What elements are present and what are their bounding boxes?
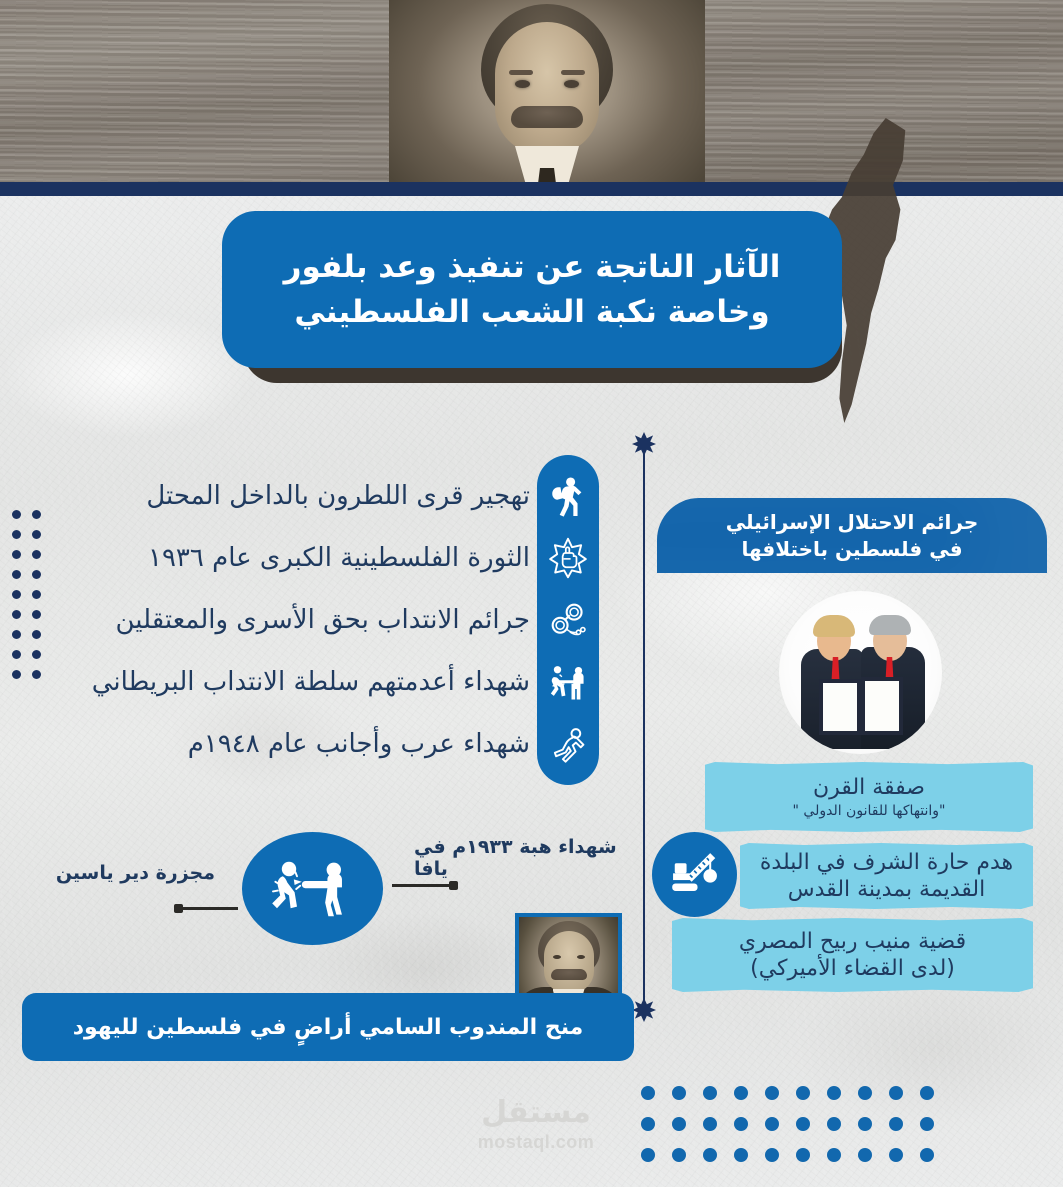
dot: [641, 1117, 655, 1131]
photo-document-page-right: [865, 681, 899, 731]
list-item-label: شهداء عرب وأجانب عام ١٩٤٨م: [188, 729, 530, 760]
ribbon-subtitle: "وانتهاكها للقانون الدولي ": [793, 802, 946, 820]
ribbon-title: هدم حارة الشرف في البلدة القديمة بمدينة …: [760, 849, 1013, 904]
dot: [12, 610, 21, 619]
right-panel-item: قضية منيب ربيح المصري (لدى القضاء الأمير…: [672, 918, 1033, 992]
dot: [32, 650, 41, 659]
list-item-label: جرائم الانتداب بحق الأسرى والمعتقلين: [116, 605, 530, 636]
header-banner: [0, 0, 1063, 196]
dot: [672, 1086, 686, 1100]
dot: [641, 1148, 655, 1162]
balfour-header-portrait: [389, 0, 705, 196]
label-jaffa-1933: شهداء هبة ١٩٣٣م في يافا: [414, 836, 629, 880]
body-outline-icon: [547, 723, 589, 765]
dot: [796, 1117, 810, 1131]
dot: [827, 1086, 841, 1100]
dot: [32, 570, 41, 579]
land-grant-banner: منح المندوب السامي أراضٍ في فلسطين لليهو…: [22, 993, 634, 1061]
dot: [32, 530, 41, 539]
dot: [32, 630, 41, 639]
dot: [765, 1148, 779, 1162]
dot: [12, 590, 21, 599]
dot: [672, 1148, 686, 1162]
dot: [858, 1086, 872, 1100]
connector-deir-yassin: [178, 907, 238, 910]
dot: [827, 1117, 841, 1131]
page-title-line1: الآثار الناتجة عن تنفيذ وعد بلفور: [284, 249, 781, 285]
portrait-eye-left: [515, 80, 530, 88]
dot: [32, 550, 41, 559]
execution-icon: [547, 661, 589, 703]
demolition-icon-badge: [652, 832, 737, 917]
refugee-icon: [547, 475, 589, 517]
dot: [920, 1148, 934, 1162]
list-item: تهجير قرى اللطرون بالداخل المحتل: [78, 466, 530, 528]
right-panel-item: صفقة القرن "وانتهاكها للقانون الدولي ": [705, 762, 1033, 832]
dot: [734, 1086, 748, 1100]
dot: [32, 670, 41, 679]
watermark-arabic: مستقل: [452, 1098, 620, 1128]
portrait-moustache: [511, 106, 583, 128]
dot: [827, 1148, 841, 1162]
photo-figure-left-hair: [813, 615, 855, 637]
dot: [765, 1117, 779, 1131]
list-item: شهداء عرب وأجانب عام ١٩٤٨م: [78, 714, 530, 776]
portrait-brow-left: [509, 70, 533, 75]
dot: [858, 1148, 872, 1162]
main-title-pill: الآثار الناتجة عن تنفيذ وعد بلفور وخاصة …: [222, 211, 842, 368]
dot: [12, 510, 21, 519]
left-dot-grid: [6, 505, 46, 685]
small-portrait-face: [544, 931, 594, 993]
timeline-line: [643, 444, 645, 1010]
dot: [32, 610, 41, 619]
portrait-eye-right: [564, 80, 579, 88]
dot: [734, 1148, 748, 1162]
header-navy-strip: [0, 182, 1063, 196]
right-panel-heading: جرائم الاحتلال الإسرائيلي في فلسطين باخت…: [657, 498, 1047, 573]
dot: [889, 1117, 903, 1131]
dot: [12, 570, 21, 579]
bottom-dot-grid: [632, 1078, 942, 1171]
right-panel-heading-text: جرائم الاحتلال الإسرائيلي في فلسطين باخت…: [726, 509, 978, 563]
dot: [703, 1148, 717, 1162]
handcuffs-icon: [547, 599, 589, 641]
photo-document-page-left: [823, 683, 857, 731]
dot: [12, 530, 21, 539]
portrait-brow-right: [561, 70, 585, 75]
watermark-latin: mostaql.com: [452, 1132, 620, 1153]
label-deir-yassin: مجزرة دير ياسين: [30, 862, 215, 884]
right-panel-item: هدم حارة الشرف في البلدة القديمة بمدينة …: [740, 843, 1033, 909]
ribbon-title: قضية منيب ربيح المصري (لدى القضاء الأمير…: [739, 928, 966, 983]
small-portrait-moustache: [551, 969, 587, 980]
dot: [32, 510, 41, 519]
dot: [920, 1086, 934, 1100]
ribbon-title: صفقة القرن: [813, 774, 925, 802]
dot: [796, 1086, 810, 1100]
connector-jaffa: [392, 884, 454, 887]
list-item: الثورة الفلسطينية الكبرى عام ١٩٣٦: [78, 528, 530, 590]
trump-netanyahu-photo: [779, 591, 942, 754]
dot: [12, 650, 21, 659]
dot: [12, 670, 21, 679]
list-item: شهداء أعدمتهم سلطة الانتداب البريطاني: [78, 652, 530, 714]
shooting-violence-icon: [265, 849, 361, 929]
violence-icon-badge: [242, 832, 383, 945]
list-item: جرائم الانتداب بحق الأسرى والمعتقلين: [78, 590, 530, 652]
dot: [32, 590, 41, 599]
page-title: الآثار الناتجة عن تنفيذ وعد بلفور وخاصة …: [284, 245, 781, 333]
right-heading-line2: في فلسطين باختلافها: [741, 537, 962, 561]
dot: [796, 1148, 810, 1162]
dot: [703, 1117, 717, 1131]
fist-star-icon: [547, 537, 589, 579]
dot: [858, 1117, 872, 1131]
dot: [12, 550, 21, 559]
dot: [672, 1117, 686, 1131]
photo-figure-right-hair: [869, 615, 911, 635]
center-timeline: [642, 432, 646, 1022]
infographic-page: الآثار الناتجة عن تنفيذ وعد بلفور وخاصة …: [0, 0, 1063, 1187]
left-events-list: تهجير قرى اللطرون بالداخل المحتل الثورة …: [78, 466, 530, 776]
left-icon-strip: [537, 455, 599, 785]
dot: [703, 1086, 717, 1100]
dot: [920, 1117, 934, 1131]
dot: [641, 1086, 655, 1100]
land-grant-banner-text: منح المندوب السامي أراضٍ في فلسطين لليهو…: [73, 1015, 584, 1040]
mostaql-watermark: مستقل mostaql.com: [452, 1098, 620, 1153]
dot: [765, 1086, 779, 1100]
dot: [12, 630, 21, 639]
small-portrait-eye-right: [577, 955, 585, 959]
list-item-label: الثورة الفلسطينية الكبرى عام ١٩٣٦: [148, 543, 530, 574]
wrecking-crane-icon: [668, 848, 722, 902]
page-title-line2: وخاصة نكبة الشعب الفلسطيني: [294, 294, 769, 330]
portrait-face: [495, 22, 599, 154]
dot: [889, 1086, 903, 1100]
dot: [889, 1148, 903, 1162]
list-item-label: شهداء أعدمتهم سلطة الانتداب البريطاني: [92, 667, 530, 698]
right-heading-line1: جرائم الاحتلال الإسرائيلي: [726, 510, 978, 534]
dot: [734, 1117, 748, 1131]
small-portrait-eye-left: [553, 955, 561, 959]
list-item-label: تهجير قرى اللطرون بالداخل المحتل: [146, 481, 530, 512]
